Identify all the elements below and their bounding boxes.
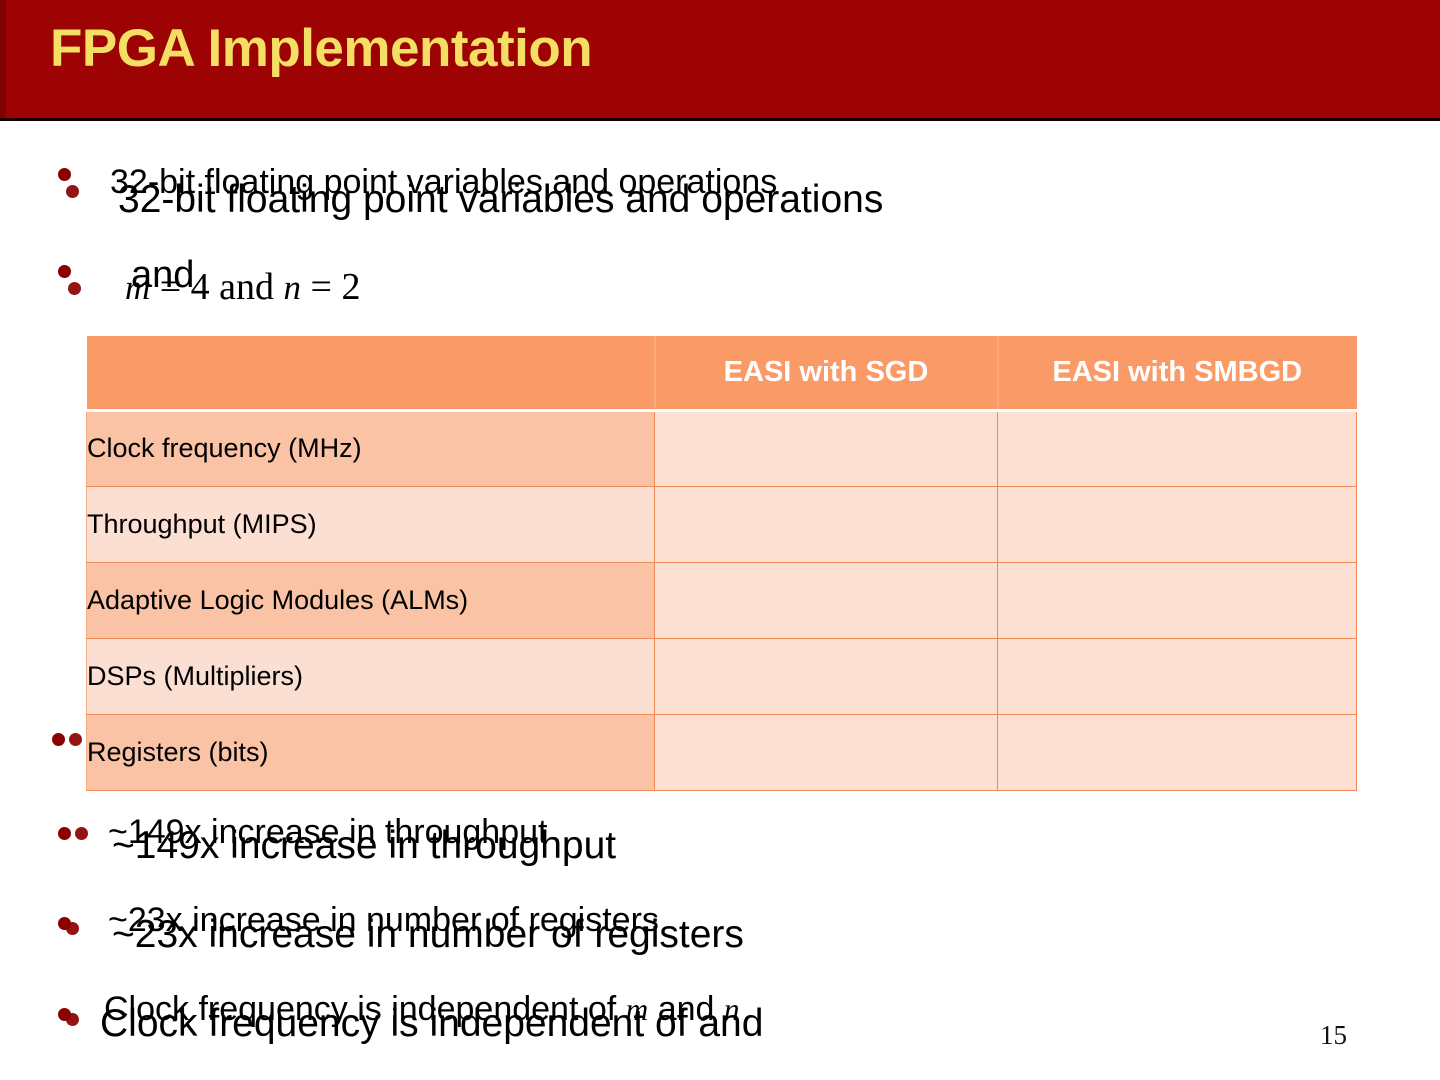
table-row: Throughput (MIPS) — [87, 486, 1357, 562]
math-variable-m: m — [125, 268, 150, 307]
table-cell-sgd-value — [655, 486, 998, 562]
table-row: DSPs (Multipliers) — [87, 638, 1357, 714]
bullet-marker-icon-ghost — [66, 1013, 79, 1026]
slide-title-banner: FPGA Implementation — [0, 0, 1440, 121]
table-cell-metric-label: Adaptive Logic Modules (ALMs) — [87, 562, 655, 638]
math-variable-n: n — [284, 268, 301, 307]
table-row: Adaptive Logic Modules (ALMs) — [87, 562, 1357, 638]
table-body: Clock frequency (MHz) Throughput (MIPS) … — [87, 410, 1357, 790]
table-cell-smbgd-value — [998, 638, 1357, 714]
page-title: FPGA Implementation — [50, 21, 592, 77]
table-cell-sgd-value — [655, 714, 998, 790]
bullet-marker-icon — [58, 827, 71, 840]
table-header-easi-smbgd: EASI with SMBGD — [998, 336, 1357, 410]
table-cell-sgd-value — [655, 410, 998, 486]
table-cell-sgd-value — [655, 638, 998, 714]
table-cell-metric-label: DSPs (Multipliers) — [87, 638, 655, 714]
table-cell-sgd-value — [655, 562, 998, 638]
bullet-marker-icon-ghost — [66, 922, 79, 935]
bullet-marker-icon-ghost — [66, 185, 79, 198]
bullet-marker-icon-ghost — [68, 282, 81, 295]
table-cell-smbgd-value — [998, 486, 1357, 562]
table-cell-metric-label: Throughput (MIPS) — [87, 486, 655, 562]
table-cell-smbgd-value — [998, 410, 1357, 486]
bullet-label-clock-independent: Clock frequency is independent of and — [100, 1002, 763, 1046]
table-header-row: EASI with SGD EASI with SMBGD — [87, 336, 1357, 410]
bullet-label-floating-point: 32-bit floating point variables and oper… — [118, 178, 883, 222]
table-cell-metric-label: Registers (bits) — [87, 714, 655, 790]
bullet-marker-icon — [58, 265, 71, 278]
table-row: Clock frequency (MHz) — [87, 410, 1357, 486]
page-number: 15 — [1320, 1020, 1347, 1051]
table-header-metric — [87, 336, 655, 410]
table-row: Registers (bits) — [87, 714, 1357, 790]
bullet-marker-icon-ghost — [69, 733, 82, 746]
bullet-label-m-and-n: m = 4 and n = 2 — [125, 265, 360, 309]
bullet-label-registers-increase: ~23x increase in number of registers — [112, 913, 744, 957]
table-header: EASI with SGD EASI with SMBGD — [87, 336, 1357, 410]
bullet-label-throughput-increase: ~149x increase in throughput — [112, 824, 616, 868]
math-expression-n-value: = 2 — [301, 266, 360, 308]
table-cell-smbgd-value — [998, 562, 1357, 638]
table-cell-smbgd-value — [998, 714, 1357, 790]
table-cell-metric-label: Clock frequency (MHz) — [87, 410, 655, 486]
fpga-metrics-table: EASI with SGD EASI with SMBGD Clock freq… — [86, 336, 1357, 791]
math-expression-m-value: = 4 and — [150, 266, 283, 308]
table-header-easi-sgd: EASI with SGD — [655, 336, 998, 410]
bullet-marker-icon — [52, 733, 65, 746]
bullet-marker-icon — [58, 168, 71, 181]
bullet-marker-icon-ghost — [75, 827, 88, 840]
